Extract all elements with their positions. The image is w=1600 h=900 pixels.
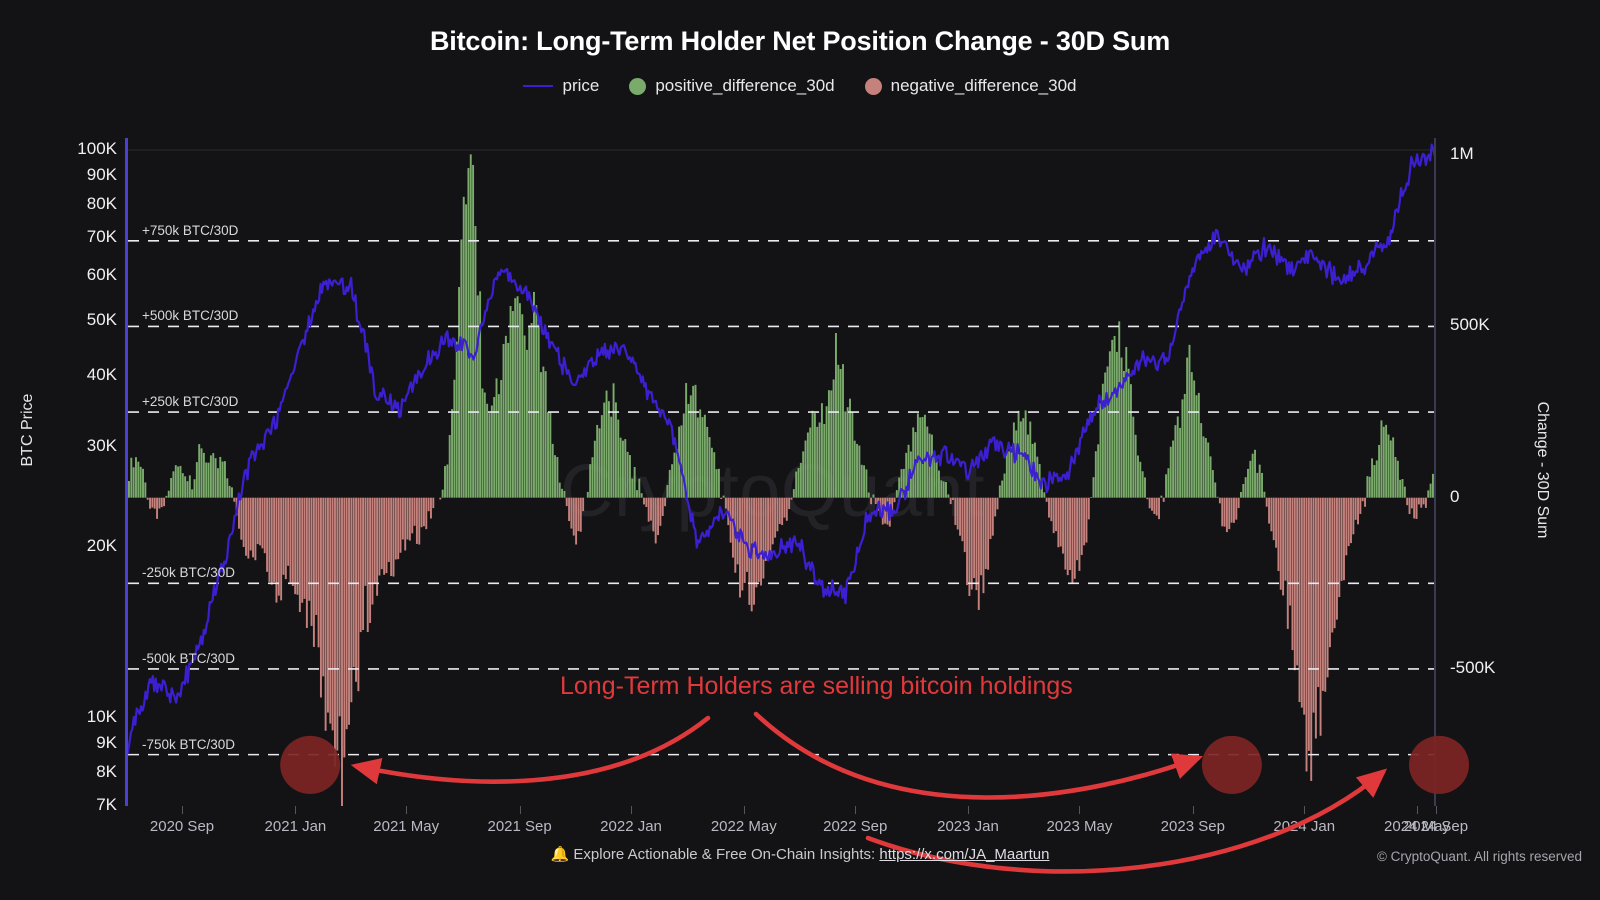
x-tick-mark <box>1079 806 1080 814</box>
positive-dot-swatch-icon <box>629 78 646 95</box>
y-tick-left-80K: 80K <box>87 194 117 214</box>
y-tick-left-100K: 100K <box>77 139 117 159</box>
x-tick-label-2023-May: 2023 May <box>1046 818 1112 835</box>
legend-label-negative: negative_difference_30d <box>891 76 1077 96</box>
x-tick-mark <box>855 806 856 814</box>
reference-label-3: -250k BTC/30D <box>142 565 235 580</box>
legend-item-positive-difference[interactable]: positive_difference_30d <box>629 76 834 96</box>
y-tick-right-500K: 500K <box>1450 315 1490 335</box>
x-tick-label-2024-Jan: 2024 Jan <box>1273 818 1335 835</box>
chart-legend: price positive_difference_30d negative_d… <box>0 76 1600 96</box>
legend-item-negative-difference[interactable]: negative_difference_30d <box>865 76 1077 96</box>
x-tick-mark <box>1417 806 1418 814</box>
x-tick-mark <box>968 806 969 814</box>
y-axis-left-title: BTC Price <box>19 394 37 467</box>
footer-link[interactable]: https://x.com/JA_Maartun <box>879 846 1049 863</box>
x-tick-mark <box>182 806 183 814</box>
reference-label-1: +500k BTC/30D <box>142 308 238 323</box>
x-tick-mark <box>520 806 521 814</box>
y-tick-right-0: 0 <box>1450 487 1459 507</box>
reference-label-2: +250k BTC/30D <box>142 394 238 409</box>
page-title: Bitcoin: Long-Term Holder Net Position C… <box>0 26 1600 57</box>
y-tick-left-20K: 20K <box>87 536 117 556</box>
legend-item-price[interactable]: price <box>523 76 599 96</box>
y-tick-left-30K: 30K <box>87 436 117 456</box>
x-tick-mark <box>295 806 296 814</box>
x-tick-label-2022-Jan: 2022 Jan <box>600 818 662 835</box>
x-tick-label-2023-Jan: 2023 Jan <box>937 818 999 835</box>
reference-label-0: +750k BTC/30D <box>142 223 238 238</box>
y-tick-right-1M: 1M <box>1450 144 1474 164</box>
x-tick-label-2024-Sep: 2024 Sep <box>1404 818 1468 835</box>
reference-label-4: -500k BTC/30D <box>142 651 235 666</box>
x-tick-label-2023-Sep: 2023 Sep <box>1161 818 1225 835</box>
x-tick-label-2020-Sep: 2020 Sep <box>150 818 214 835</box>
legend-label-price: price <box>562 76 599 96</box>
x-tick-label-2021-Jan: 2021 Jan <box>265 818 327 835</box>
x-tick-mark <box>744 806 745 814</box>
copyright-text: © CryptoQuant. All rights reserved <box>1377 849 1582 864</box>
x-tick-mark <box>631 806 632 814</box>
bell-icon: 🔔 <box>551 846 570 863</box>
legend-label-positive: positive_difference_30d <box>655 76 834 96</box>
y-tick-left-50K: 50K <box>87 310 117 330</box>
negative-dot-swatch-icon <box>865 78 882 95</box>
price-line-swatch-icon <box>523 85 553 87</box>
chart-canvas <box>128 138 1434 806</box>
callout-text: Long-Term Holders are selling bitcoin ho… <box>560 672 1073 701</box>
x-tick-mark <box>1304 806 1305 814</box>
x-tick-mark <box>1193 806 1194 814</box>
plot-area[interactable]: CryptoQuant +750k BTC/30D+500k BTC/30D+2… <box>125 138 1436 806</box>
y-axis-right-title: Change - 30D Sum <box>1533 402 1551 539</box>
y-tick-right--500K: -500K <box>1450 658 1495 678</box>
y-tick-left-9K: 9K <box>96 733 117 753</box>
y-tick-left-40K: 40K <box>87 365 117 385</box>
y-tick-left-8K: 8K <box>96 762 117 782</box>
y-tick-left-90K: 90K <box>87 165 117 185</box>
footer-note: 🔔 Explore Actionable & Free On-Chain Ins… <box>0 845 1600 863</box>
y-tick-left-70K: 70K <box>87 227 117 247</box>
x-tick-label-2021-Sep: 2021 Sep <box>487 818 551 835</box>
y-tick-left-10K: 10K <box>87 707 117 727</box>
x-tick-mark <box>1436 806 1437 814</box>
y-tick-left-60K: 60K <box>87 265 117 285</box>
footer-text: Explore Actionable & Free On-Chain Insig… <box>573 846 875 863</box>
x-tick-label-2021-May: 2021 May <box>373 818 439 835</box>
reference-label-5: -750k BTC/30D <box>142 737 235 752</box>
x-tick-label-2022-Sep: 2022 Sep <box>823 818 887 835</box>
x-tick-label-2022-May: 2022 May <box>711 818 777 835</box>
y-tick-left-7K: 7K <box>96 795 117 815</box>
x-tick-mark <box>406 806 407 814</box>
chart-page: Bitcoin: Long-Term Holder Net Position C… <box>0 0 1600 900</box>
